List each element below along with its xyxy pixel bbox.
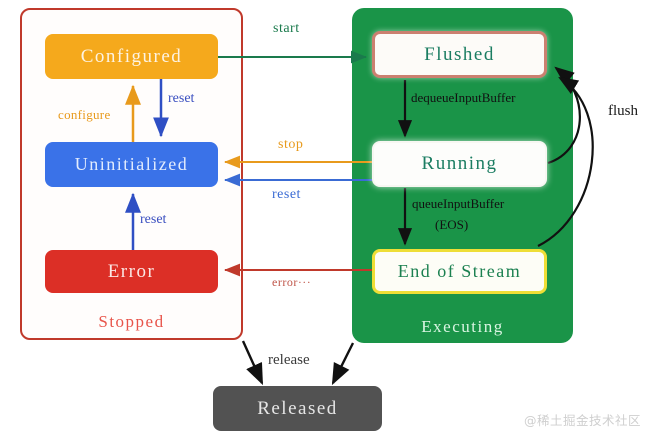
edge-label-configure: configure [58, 107, 111, 123]
edge-label-dequeue-input-buffer: dequeueInputBuffer [411, 90, 515, 106]
edge-label-eos-parenthetical: (EOS) [435, 217, 468, 233]
state-released[interactable]: Released [213, 386, 382, 431]
state-diagram-canvas: Stopped Executing [0, 0, 653, 439]
group-stopped-label: Stopped [22, 312, 241, 332]
edge-label-reset-running: reset [272, 187, 301, 203]
state-uninitialized[interactable]: Uninitialized [45, 142, 218, 187]
state-error[interactable]: Error [45, 250, 218, 293]
state-flushed[interactable]: Flushed [372, 31, 547, 78]
edge-label-reset-error: reset [140, 212, 166, 228]
edge-label-reset-configured: reset [168, 91, 194, 107]
state-configured[interactable]: Configured [45, 34, 218, 79]
edge-label-flush: flush [608, 103, 638, 120]
edge-label-start: start [273, 21, 300, 37]
edge-label-release: release [268, 352, 310, 369]
watermark: @稀土掘金技术社区 [524, 410, 641, 429]
edge-label-error: error··· [272, 275, 311, 290]
group-executing-label: Executing [352, 317, 573, 337]
edge-release-stopped [243, 341, 262, 383]
edge-label-stop: stop [278, 137, 303, 153]
state-running[interactable]: Running [372, 141, 547, 187]
edge-release-executing [333, 343, 353, 383]
state-end-of-stream[interactable]: End of Stream [372, 249, 547, 294]
edge-label-queue-input-buffer: queueInputBuffer [412, 196, 504, 212]
